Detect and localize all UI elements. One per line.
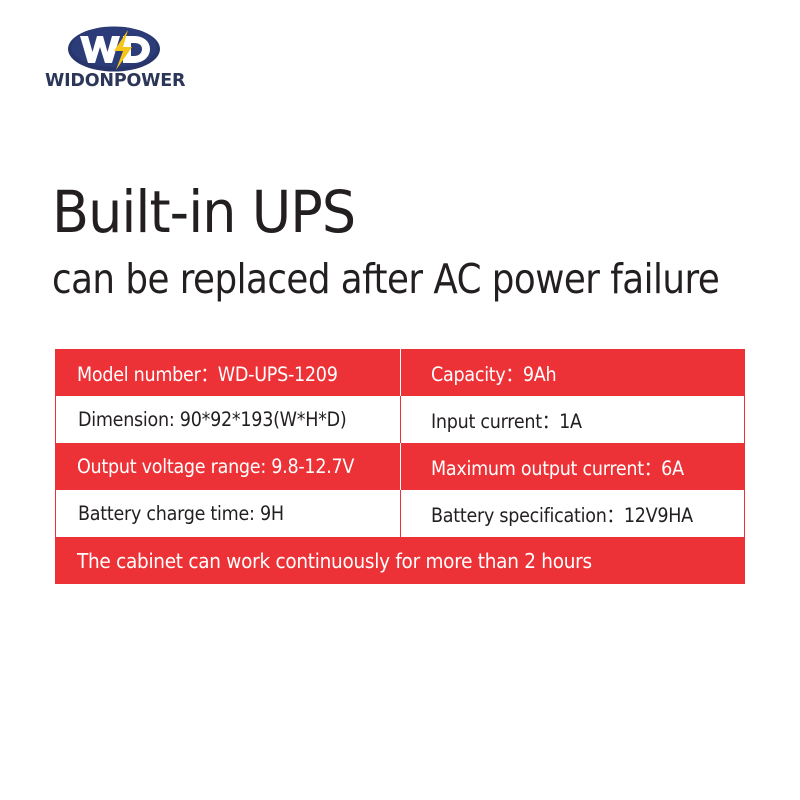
brand-logo: WIDONPOWER: [45, 26, 245, 91]
spec-cell-text: Battery charge time: 9H: [78, 502, 284, 525]
table-row: Dimension: 90*92*193(W*H*D) Input curren…: [55, 396, 745, 443]
spec-cell-text: Model number：WD-UPS-1209: [77, 358, 338, 387]
brand-wordmark: WIDONPOWER: [45, 73, 245, 91]
page-subtitle: can be replaced after AC power failure: [52, 257, 719, 302]
spec-cell-text: Maximum output current：6A: [431, 452, 684, 481]
table-row: Battery charge time: 9H Battery specific…: [55, 490, 745, 537]
spec-footer-text: The cabinet can work continuously for mo…: [77, 549, 592, 573]
spec-cell-text: Capacity：9Ah: [431, 358, 556, 387]
spec-cell-text: Battery specification：12V9HA: [431, 499, 693, 528]
spec-cell-dimension: Dimension: 90*92*193(W*H*D): [56, 396, 400, 443]
spec-cell-text: Output voltage range: 9.8-12.7V: [77, 455, 354, 478]
spec-cell-battery-charge-time: Battery charge time: 9H: [56, 490, 400, 537]
spec-cell-model-number: Model number：WD-UPS-1209: [55, 349, 400, 396]
page-title: Built-in UPS: [52, 182, 355, 243]
spec-cell-maximum-output-current: Maximum output current：6A: [400, 443, 745, 490]
spec-cell-text: Input current：1A: [431, 405, 582, 434]
spec-cell-output-voltage-range: Output voltage range: 9.8-12.7V: [55, 443, 400, 490]
spec-table-footer-note: The cabinet can work continuously for mo…: [55, 537, 745, 584]
spec-cell-text: Dimension: 90*92*193(W*H*D): [78, 408, 347, 431]
table-row: Model number：WD-UPS-1209 Capacity：9Ah: [55, 349, 745, 396]
spec-cell-capacity: Capacity：9Ah: [400, 349, 745, 396]
spec-cell-input-current: Input current：1A: [400, 396, 744, 443]
specification-table: Model number：WD-UPS-1209 Capacity：9Ah Di…: [55, 349, 745, 584]
spec-cell-battery-specification: Battery specification：12V9HA: [400, 490, 744, 537]
widonpower-logo-icon: [68, 26, 160, 72]
table-row: Output voltage range: 9.8-12.7V Maximum …: [55, 443, 745, 490]
